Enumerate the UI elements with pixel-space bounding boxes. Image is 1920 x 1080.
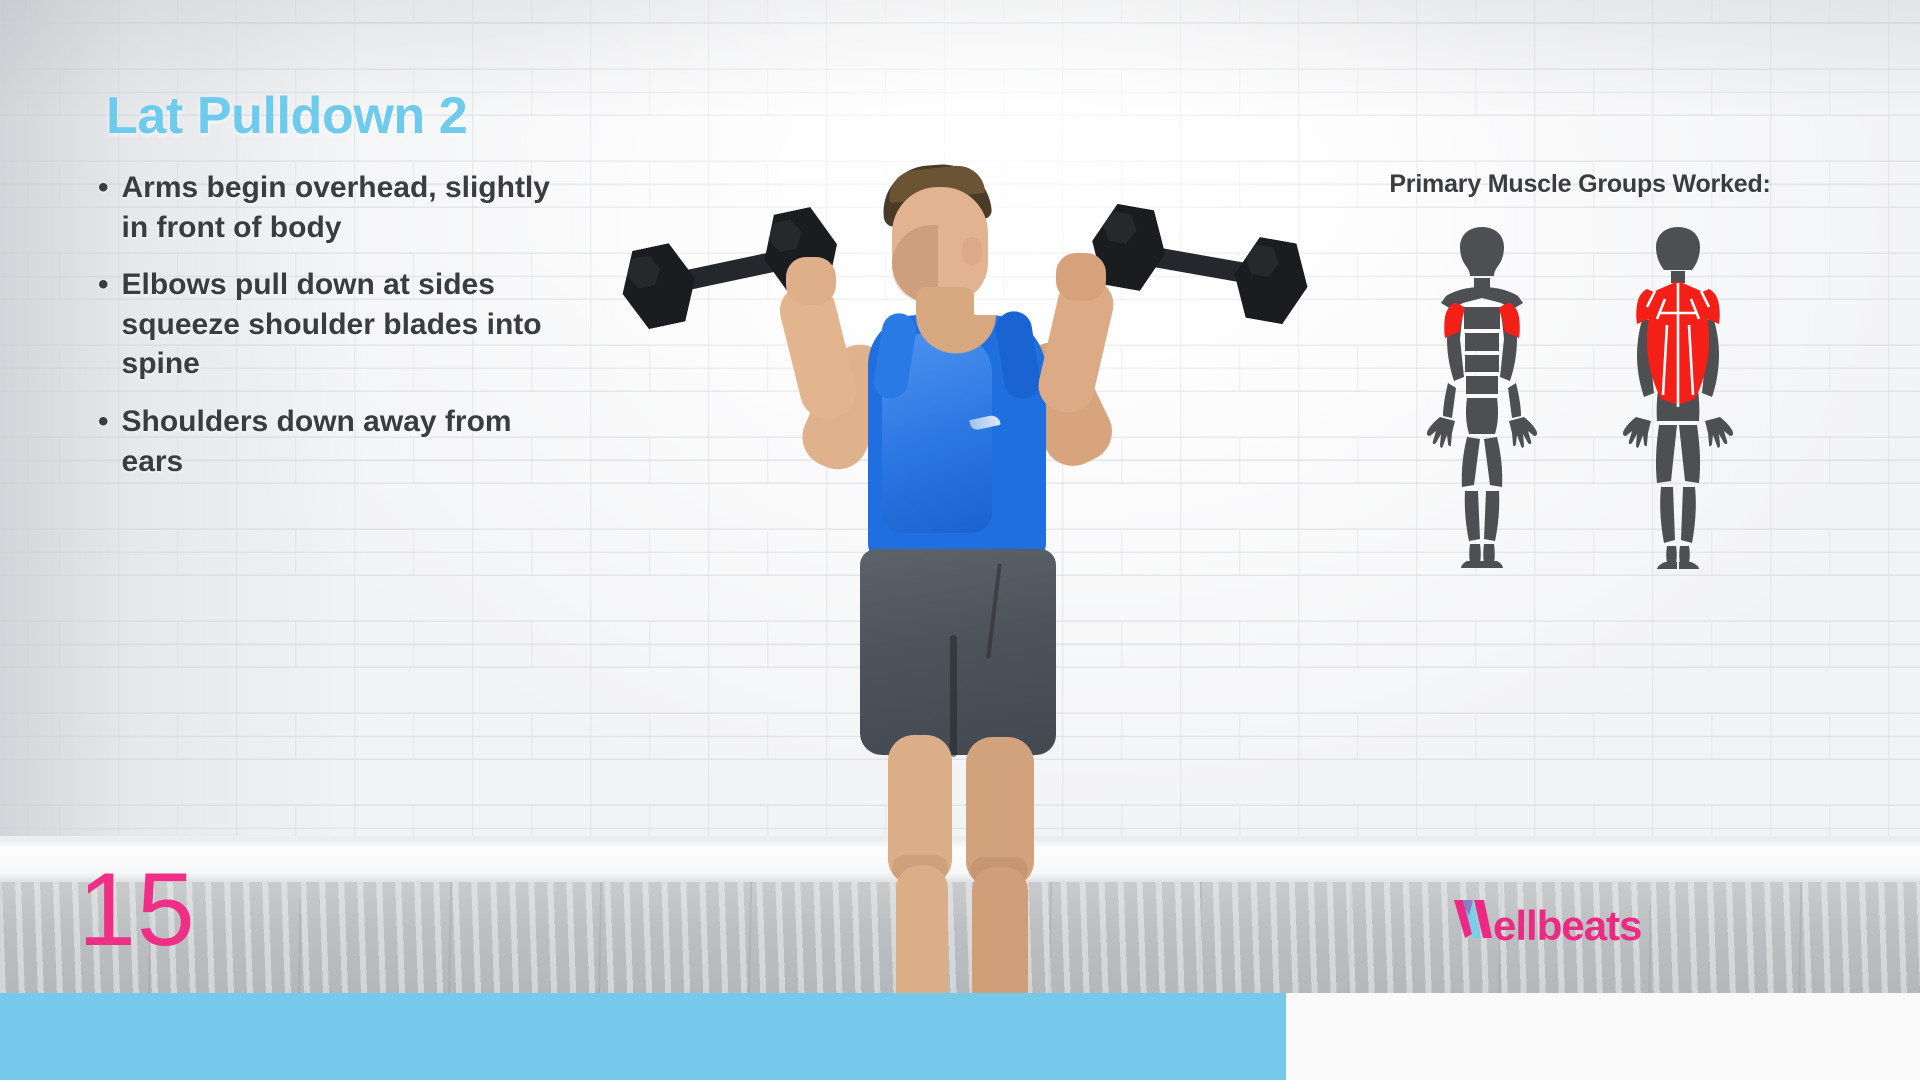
anterior-body-icon — [1407, 221, 1557, 571]
video-progress-bar[interactable] — [0, 993, 1920, 1080]
instructor-figure — [620, 165, 1300, 993]
cue-text: Elbows pull down at sides squeeze should… — [122, 265, 568, 384]
exercise-title: Lat Pulldown 2 — [106, 86, 467, 146]
right-hand — [1056, 253, 1106, 301]
rep-counter: 15 — [78, 858, 196, 962]
muscle-groups-heading: Primary Muscle Groups Worked: — [1300, 170, 1860, 199]
posterior-body-icon — [1603, 221, 1753, 571]
bullet-icon: • — [98, 168, 109, 247]
list-item: • Elbows pull down at sides squeeze shou… — [98, 265, 568, 384]
left-hand — [786, 257, 836, 305]
wellbeats-wordmark: ellbeats — [1493, 902, 1641, 950]
anatomy-figures — [1300, 221, 1860, 571]
muscle-groups-panel: Primary Muscle Groups Worked: — [1300, 170, 1860, 571]
bullet-icon: • — [98, 402, 109, 481]
cue-text: Arms begin overhead, slightly in front o… — [122, 168, 568, 247]
instructor-shorts — [860, 549, 1056, 755]
progress-fill — [0, 993, 1286, 1080]
bullet-icon: • — [98, 265, 109, 384]
list-item: • Shoulders down away from ears — [98, 402, 568, 481]
video-player-frame: Lat Pulldown 2 • Arms begin overhead, sl… — [0, 0, 1920, 1080]
wellbeats-w-icon — [1452, 898, 1496, 940]
cue-text: Shoulders down away from ears — [122, 402, 568, 481]
wellbeats-logo: ellbeats — [1452, 898, 1641, 950]
dumbbell-right — [1084, 199, 1317, 328]
list-item: • Arms begin overhead, slightly in front… — [98, 168, 568, 247]
exercise-cue-list: • Arms begin overhead, slightly in front… — [98, 168, 568, 499]
